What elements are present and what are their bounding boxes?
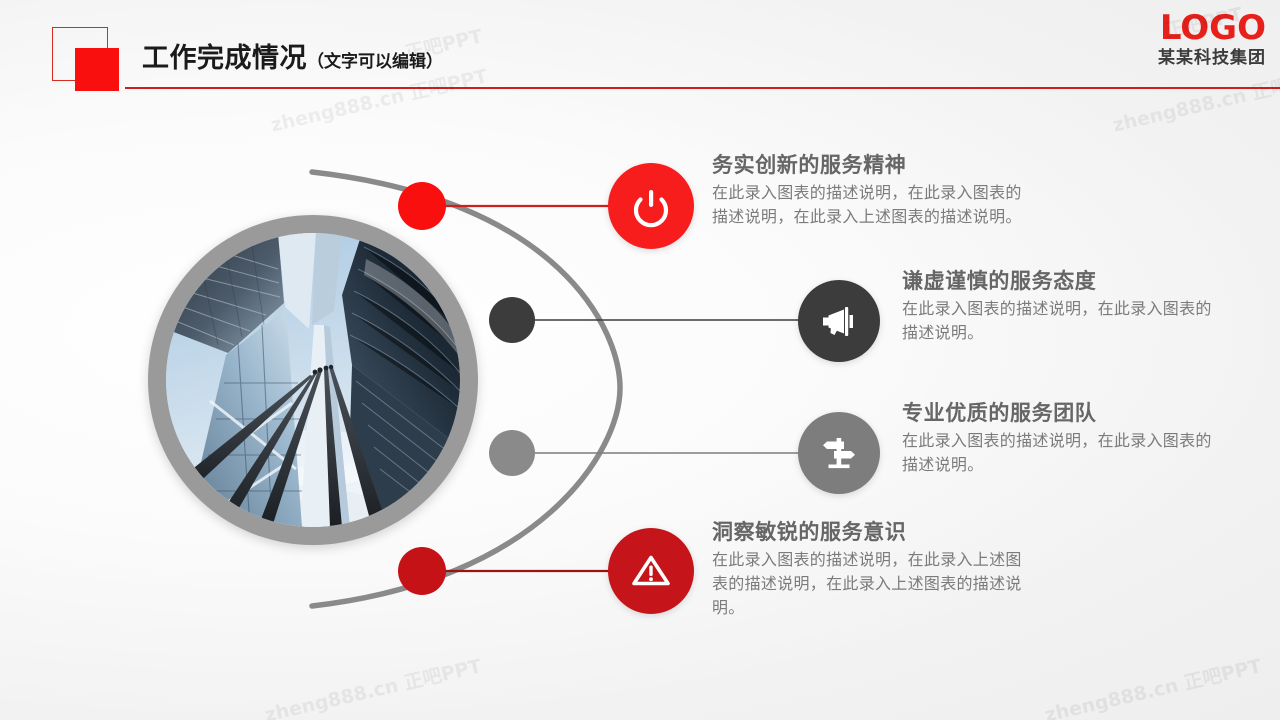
logo-company-name: 某某科技集团 [1158, 47, 1266, 69]
node-dot-2[interactable] [489, 297, 535, 343]
icon-bubble-1[interactable] [608, 163, 694, 249]
skyscrapers-upward-view-illustration [166, 233, 460, 527]
page-title-main: 工作完成情况 [142, 43, 307, 73]
page-title-sub: （文字可以编辑） [307, 52, 443, 71]
item-body-4: 在此录入图表的描述说明，在此录入上述图表的描述说明，在此录入上述图表的描述说明。 [712, 549, 1022, 621]
item-body-2: 在此录入图表的描述说明，在此录入图表的描述说明。 [902, 298, 1222, 346]
warning-triangle-icon [628, 548, 674, 594]
icon-bubble-2[interactable] [798, 280, 880, 362]
item-text-4: 洞察敏锐的服务意识 在此录入图表的描述说明，在此录入上述图表的描述说明，在此录入… [712, 519, 1022, 621]
node-dot-1[interactable] [398, 182, 446, 230]
item-body-3: 在此录入图表的描述说明，在此录入图表的描述说明。 [902, 430, 1222, 478]
item-text-2: 谦虚谨慎的服务态度 在此录入图表的描述说明，在此录入图表的描述说明。 [902, 268, 1222, 346]
item-title-1: 务实创新的服务精神 [712, 152, 1022, 179]
node-dot-4[interactable] [398, 547, 446, 595]
item-text-3: 专业优质的服务团队 在此录入图表的描述说明，在此录入图表的描述说明。 [902, 400, 1222, 478]
item-title-2: 谦虚谨慎的服务态度 [902, 268, 1222, 295]
node-dot-3[interactable] [489, 430, 535, 476]
photo-circle-ring [148, 215, 478, 545]
slide-canvas: 工作完成情况（文字可以编辑） LOGO 某某科技集团 [0, 0, 1280, 720]
icon-bubble-4[interactable] [608, 528, 694, 614]
power-icon [629, 184, 673, 228]
signpost-icon [818, 432, 860, 474]
page-title: 工作完成情况（文字可以编辑） [142, 36, 443, 75]
megaphone-icon [818, 300, 860, 342]
item-title-3: 专业优质的服务团队 [902, 400, 1222, 427]
icon-bubble-3[interactable] [798, 412, 880, 494]
item-title-4: 洞察敏锐的服务意识 [712, 519, 1022, 546]
logo-text: LOGO [1158, 10, 1266, 46]
item-body-1: 在此录入图表的描述说明，在此录入图表的描述说明，在此录入上述图表的描述说明。 [712, 182, 1022, 230]
item-text-1: 务实创新的服务精神 在此录入图表的描述说明，在此录入图表的描述说明，在此录入上述… [712, 152, 1022, 230]
photo-circle-image [166, 233, 460, 527]
logo-block: LOGO 某某科技集团 [1158, 10, 1266, 69]
